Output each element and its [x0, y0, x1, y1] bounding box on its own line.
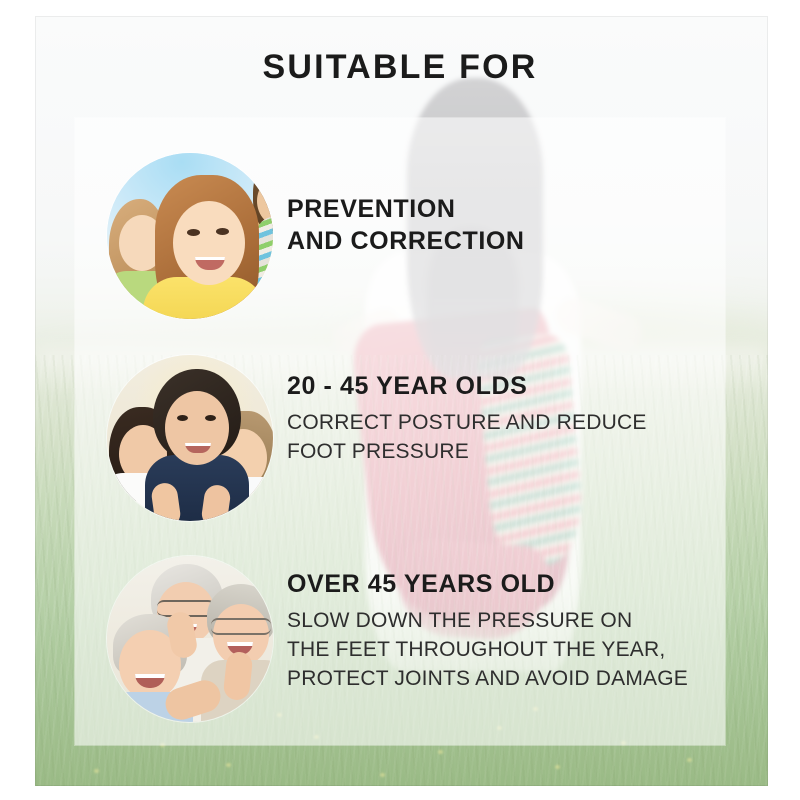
promo-infographic: SUITABLE FOR PREVENTION AND CORRECTION [0, 0, 800, 800]
section-heading-prevention: PREVENTION AND CORRECTION [287, 193, 525, 257]
section-heading-seniors: OVER 45 YEARS OLD [287, 568, 688, 600]
text-block-adults: 20 - 45 YEAR OLDS CORRECT POSTURE AND RE… [287, 370, 647, 467]
page-title: SUITABLE FOR [0, 48, 800, 87]
photo-children [107, 153, 273, 319]
section-heading-adults: 20 - 45 YEAR OLDS [287, 370, 647, 402]
photo-young-adults [107, 355, 273, 521]
text-block-prevention: PREVENTION AND CORRECTION [287, 193, 525, 257]
frame-border-bottom [0, 786, 800, 800]
frame-border-top [0, 0, 800, 16]
frame-border-right [768, 0, 800, 800]
photo-seniors [107, 556, 273, 722]
frame-border-left [0, 0, 35, 800]
section-subtext-seniors: SLOW DOWN THE PRESSURE ON THE FEET THROU… [287, 607, 688, 694]
text-block-seniors: OVER 45 YEARS OLD SLOW DOWN THE PRESSURE… [287, 568, 688, 694]
section-subtext-adults: CORRECT POSTURE AND REDUCE FOOT PRESSURE [287, 409, 647, 467]
